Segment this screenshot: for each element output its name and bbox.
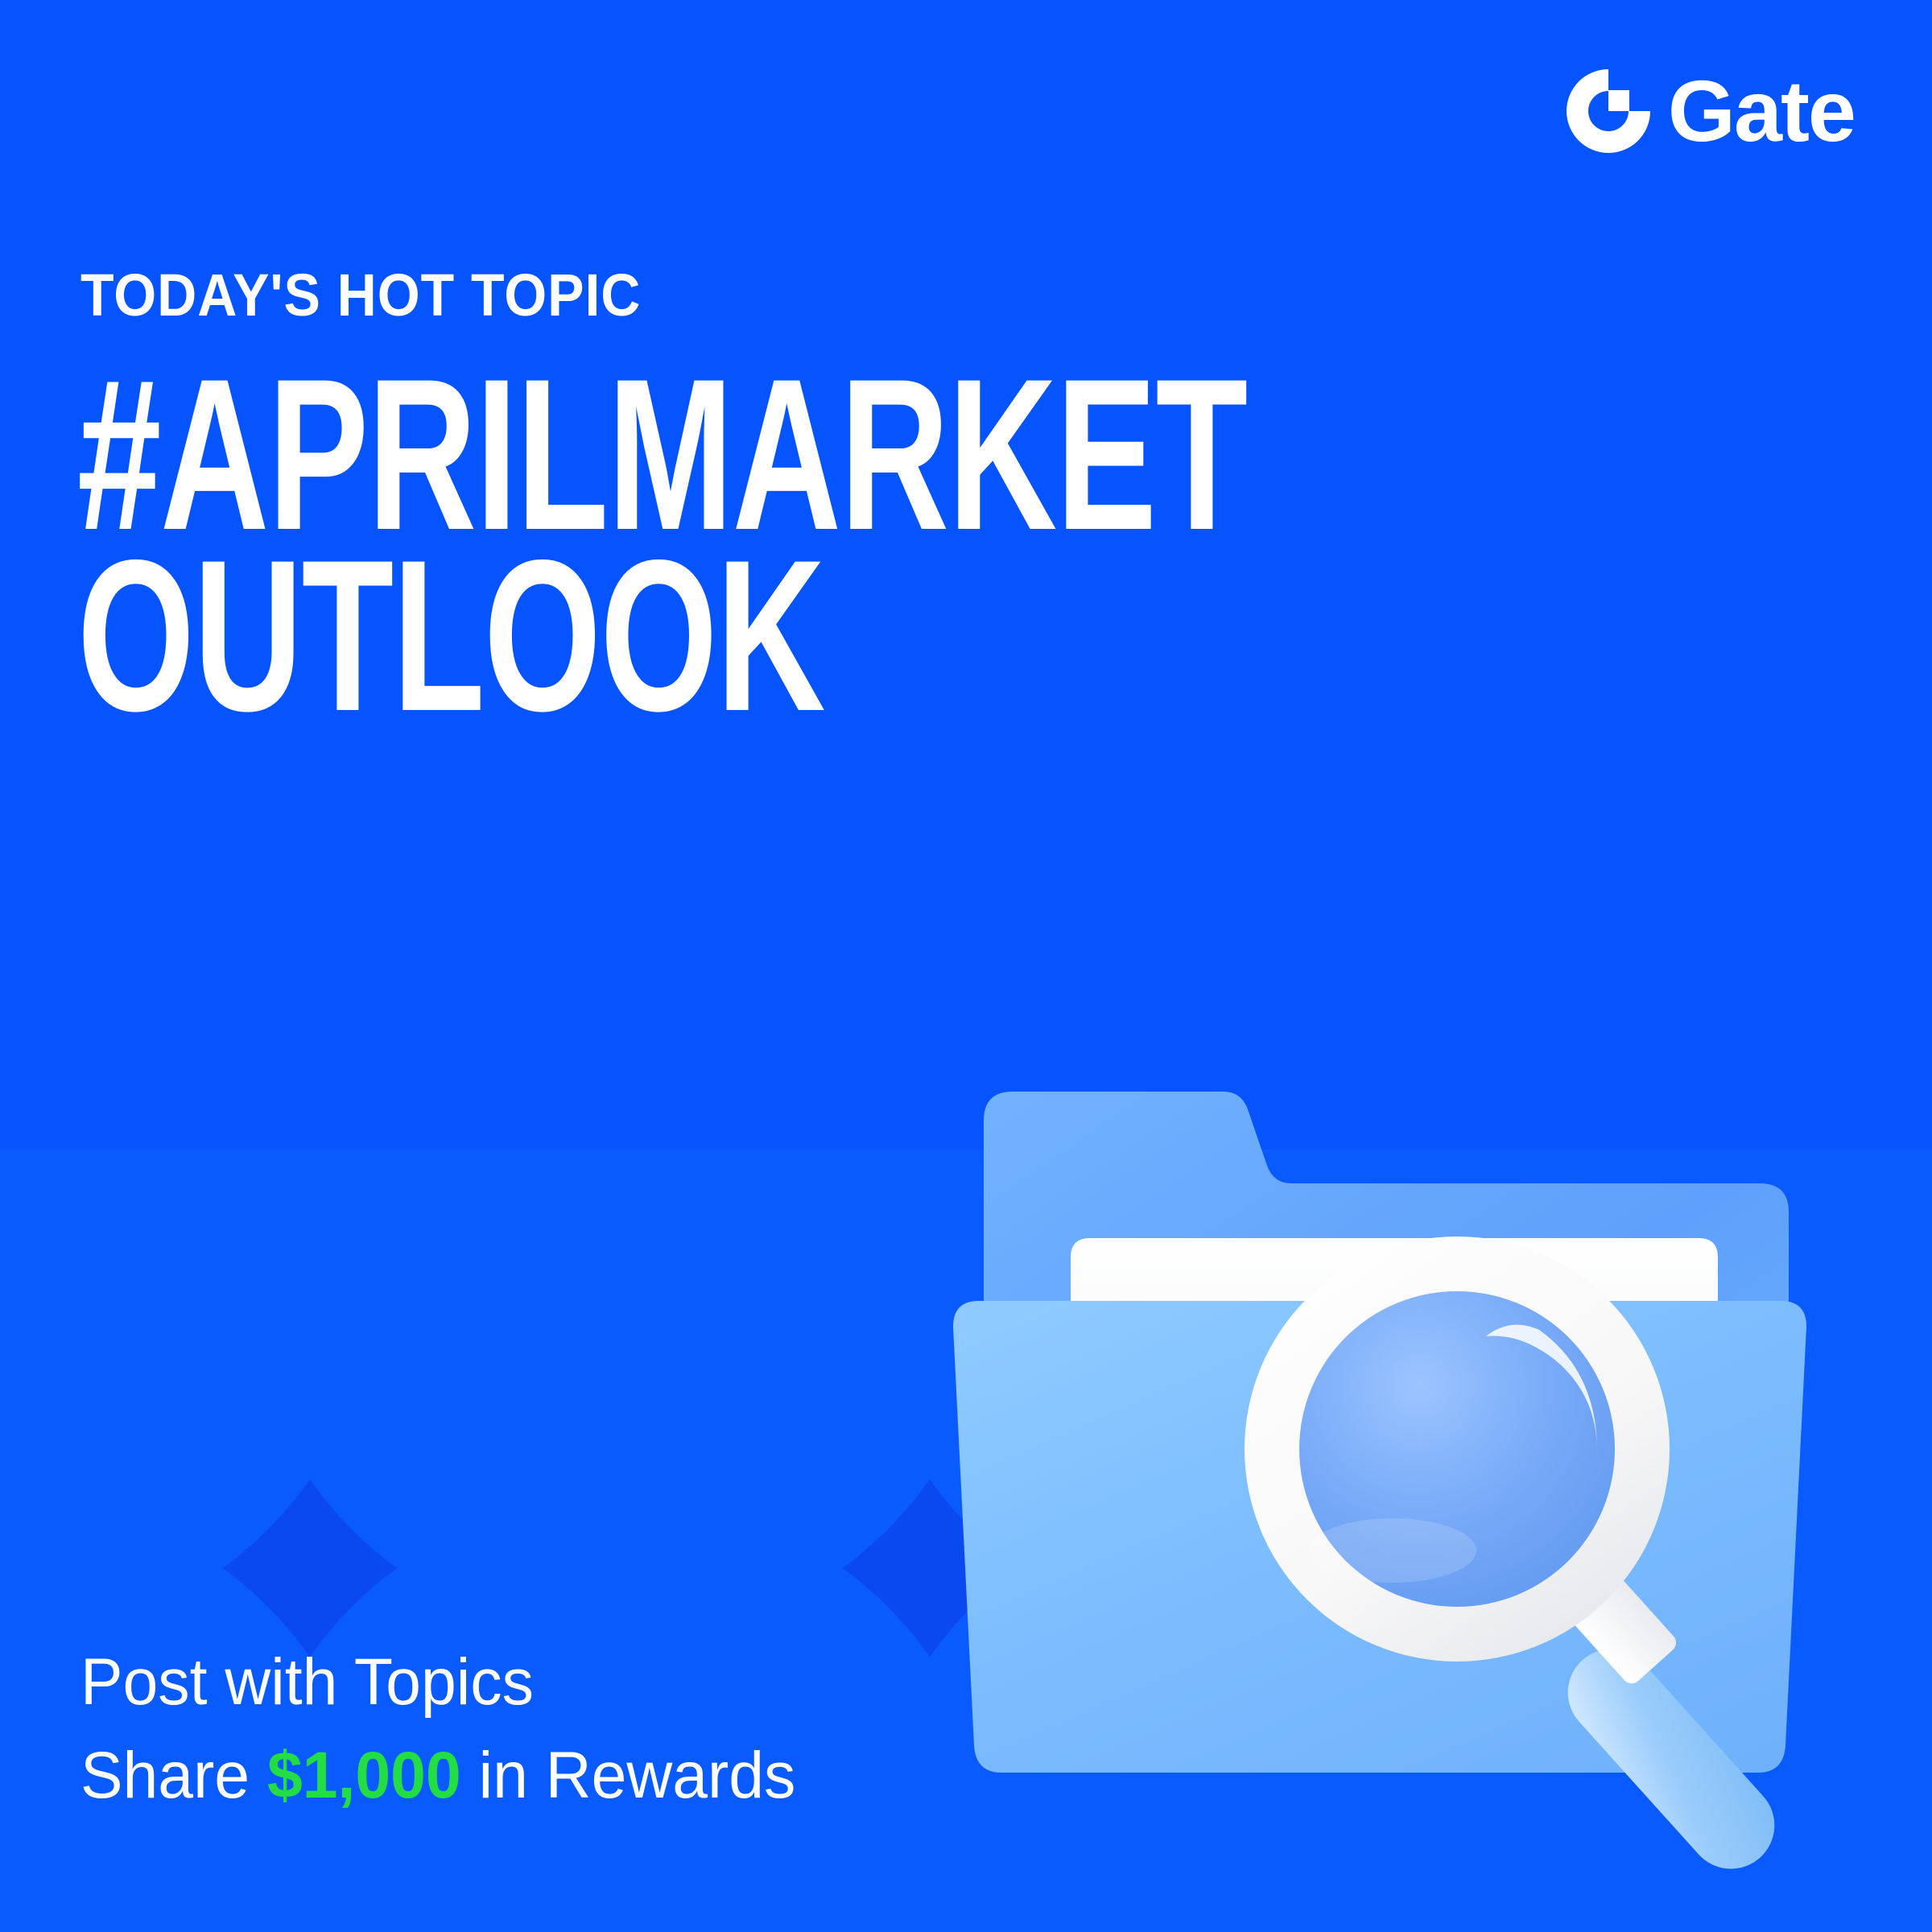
reward-amount: $1,000 <box>267 1739 461 1812</box>
caption-line-1: Post with Topics <box>80 1636 795 1729</box>
caption-block: Post with Topics Share $1,000 in Rewards <box>80 1636 825 1823</box>
caption-line-2: Share $1,000 in Rewards <box>80 1729 795 1823</box>
caption-prefix: Share <box>80 1739 267 1812</box>
page-title: #APRILMARKET OUTLOOK <box>77 364 1247 726</box>
kicker-text: TODAY'S HOT TOPIC <box>80 266 641 325</box>
lens-lower-glow <box>1309 1518 1476 1583</box>
folder-with-magnifier-icon <box>942 1071 1827 1892</box>
gate-circle-mark-icon <box>1567 69 1650 153</box>
gate-wordmark: Gate <box>1668 68 1855 155</box>
promo-canvas: Gate TODAY'S HOT TOPIC #APRILMARKET OUTL… <box>0 0 1932 1932</box>
caption-suffix: in Rewards <box>461 1739 796 1812</box>
gate-logo[interactable]: Gate <box>1567 68 1855 155</box>
